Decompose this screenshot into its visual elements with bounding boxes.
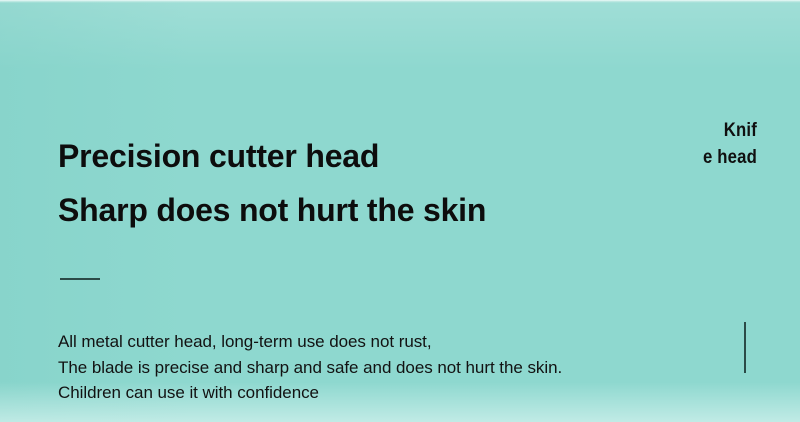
body-copy: All metal cutter head, long-term use doe… <box>58 329 562 406</box>
headline-secondary: Sharp does not hurt the skin <box>58 194 486 226</box>
knife-head-label: Knif e head <box>676 117 757 171</box>
product-feature-banner: Precision cutter head Sharp does not hur… <box>0 0 800 422</box>
background-top-highlight <box>0 0 800 70</box>
body-copy-line-2: The blade is precise and sharp and safe … <box>58 355 562 381</box>
body-copy-line-1: All metal cutter head, long-term use doe… <box>58 329 562 355</box>
vertical-accent-rule <box>744 322 746 373</box>
knife-head-label-line-2: e head <box>676 144 757 171</box>
body-copy-line-3: Children can use it with confidence <box>58 380 562 406</box>
knife-head-label-line-1: Knif <box>676 117 757 144</box>
headline-primary: Precision cutter head <box>58 140 379 172</box>
section-divider-rule <box>60 278 100 280</box>
background-top-edge <box>0 0 800 3</box>
